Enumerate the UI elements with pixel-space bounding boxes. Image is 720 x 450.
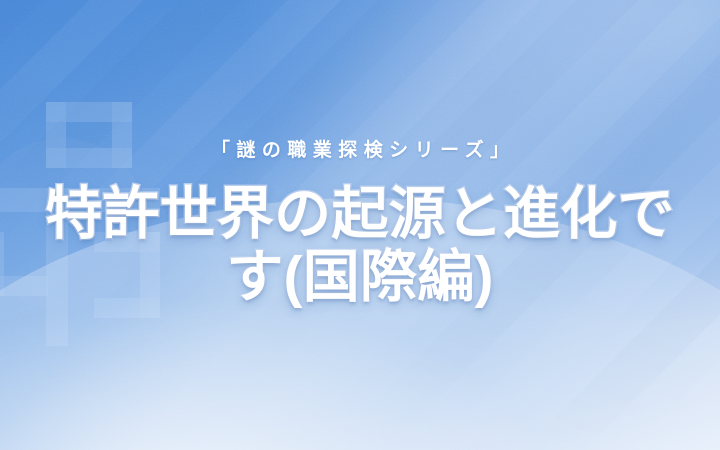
text-content: 「謎の職業探検シリーズ」 特許世界の起源と進化です(国際編) — [0, 0, 720, 450]
series-subtitle: 「謎の職業探検シリーズ」 — [204, 140, 515, 163]
title-card: 「謎の職業探検シリーズ」 特許世界の起源と進化です(国際編) — [0, 0, 720, 450]
page-title: 特許世界の起源と進化です(国際編) — [42, 183, 678, 311]
